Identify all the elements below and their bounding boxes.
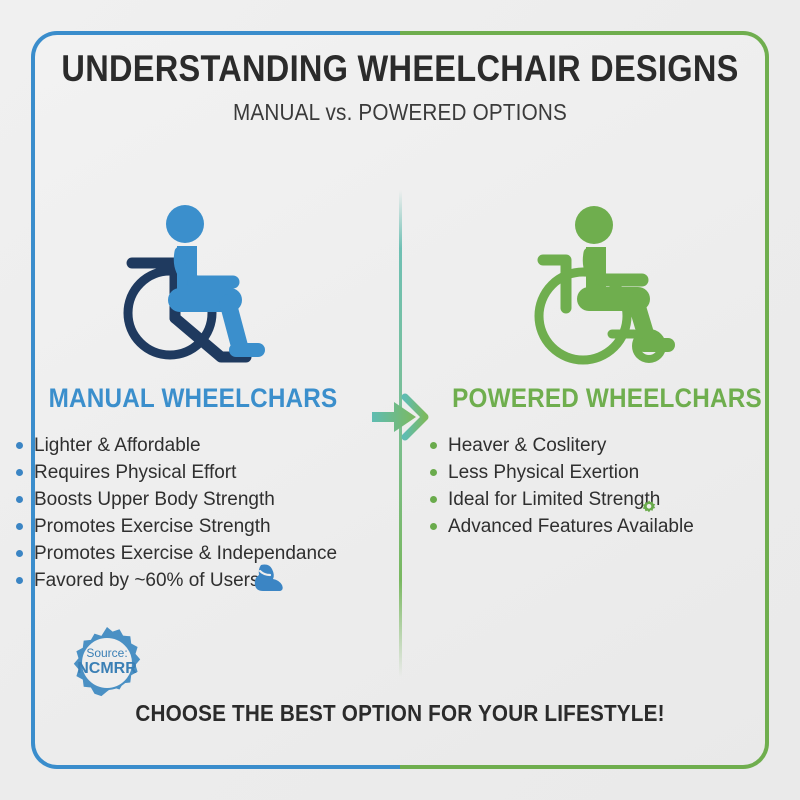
header: UNDERSTANDING WHEELCHAIR DESIGNS MANUAL … bbox=[0, 48, 800, 126]
list-item: Requires Physical Effort bbox=[8, 463, 378, 482]
list-item: Promotes Exercise Strength bbox=[8, 517, 378, 536]
source-label: Source: bbox=[86, 645, 127, 661]
powered-bullet-list: Heaver & Coslitery Less Physical Exertio… bbox=[422, 436, 792, 536]
infographic-root: UNDERSTANDING WHEELCHAIR DESIGNS MANUAL … bbox=[0, 0, 800, 800]
list-item-label: Ideal for Limited Strength bbox=[448, 489, 660, 510]
powered-column: POWERED WHEELCHARS Heaver & Coslitery Le… bbox=[422, 190, 792, 544]
list-item: Promotes Exercise & Independance bbox=[8, 544, 378, 563]
source-badge-text: Source: NCMRR bbox=[65, 619, 149, 703]
page-subtitle: MANUAL vs. POWERED OPTIONS bbox=[40, 99, 760, 126]
page-title: UNDERSTANDING WHEELCHAIR DESIGNS bbox=[48, 48, 752, 90]
manual-wheelchair-icon bbox=[8, 190, 378, 375]
source-value: NCMRR bbox=[77, 661, 137, 677]
manual-bullet-list: Lighter & Affordable Requires Physical E… bbox=[8, 436, 378, 590]
list-item: Ideal for Limited Strength bbox=[422, 490, 792, 509]
chevron-right-arrow-icon bbox=[372, 393, 430, 446]
list-item: Lighter & Affordable bbox=[8, 436, 378, 455]
list-item: Advanced Features Available bbox=[422, 517, 792, 536]
source-badge: Source: NCMRR bbox=[65, 619, 149, 708]
list-item: Favored by ~60% of Users bbox=[8, 571, 378, 590]
powered-wheelchair-icon bbox=[422, 190, 792, 375]
footer-callout: CHOOSE THE BEST OPTION FOR YOUR LIFESTYL… bbox=[40, 700, 760, 727]
manual-column: MANUAL WHEELCHARS Lighter & Affordable R… bbox=[8, 190, 378, 598]
manual-column-heading: MANUAL WHEELCHARS bbox=[27, 383, 360, 414]
powered-column-heading: POWERED WHEELCHARS bbox=[441, 383, 774, 414]
list-item-label: Favored by ~60% of Users bbox=[34, 570, 259, 591]
list-item: Less Physical Exertion bbox=[422, 463, 792, 482]
list-item: Heaver & Coslitery bbox=[422, 436, 792, 455]
list-item: Boosts Upper Body Strength bbox=[8, 490, 378, 509]
